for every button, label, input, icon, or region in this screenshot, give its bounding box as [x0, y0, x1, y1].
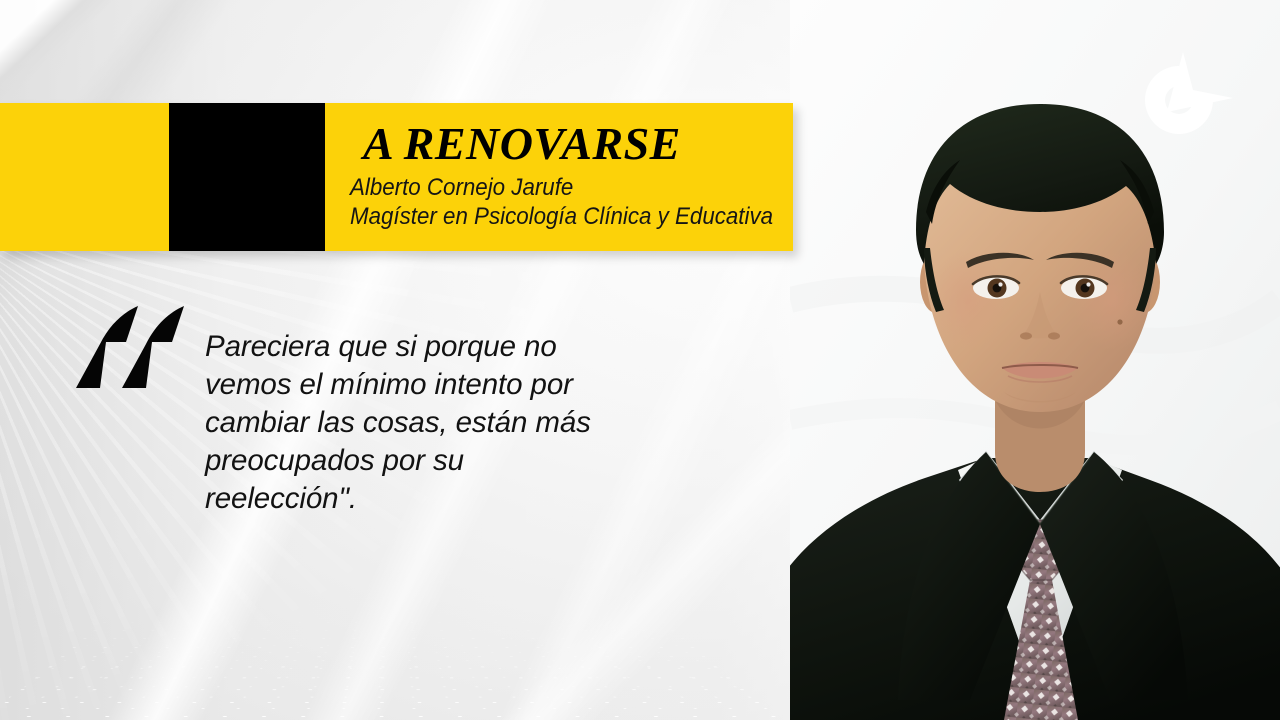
page-title: A RENOVARSE: [363, 121, 793, 167]
quote-line: vemos el mínimo intento por: [205, 366, 625, 404]
banner-text-group: A RENOVARSE Alberto Cornejo Jarufe Magís…: [345, 103, 793, 251]
circular-arrow-logo-icon: [1123, 50, 1235, 154]
author-title: Magíster en Psicología Clínica y Educati…: [350, 202, 762, 231]
open-quote-icon: [70, 300, 190, 400]
quote-line: cambiar las cosas, están más: [205, 404, 625, 442]
quote-line: preocupados por su: [205, 442, 625, 480]
quote-text: Pareciera que si porque no vemos el míni…: [205, 328, 625, 518]
quote-line: reelección".: [205, 480, 625, 518]
author-name: Alberto Cornejo Jarufe: [350, 173, 762, 202]
title-banner: A RENOVARSE Alberto Cornejo Jarufe Magís…: [0, 103, 793, 251]
banner-black-block: [169, 103, 325, 251]
slide-canvas: A RENOVARSE Alberto Cornejo Jarufe Magís…: [0, 0, 1280, 720]
quote-line: Pareciera que si porque no: [205, 328, 625, 366]
